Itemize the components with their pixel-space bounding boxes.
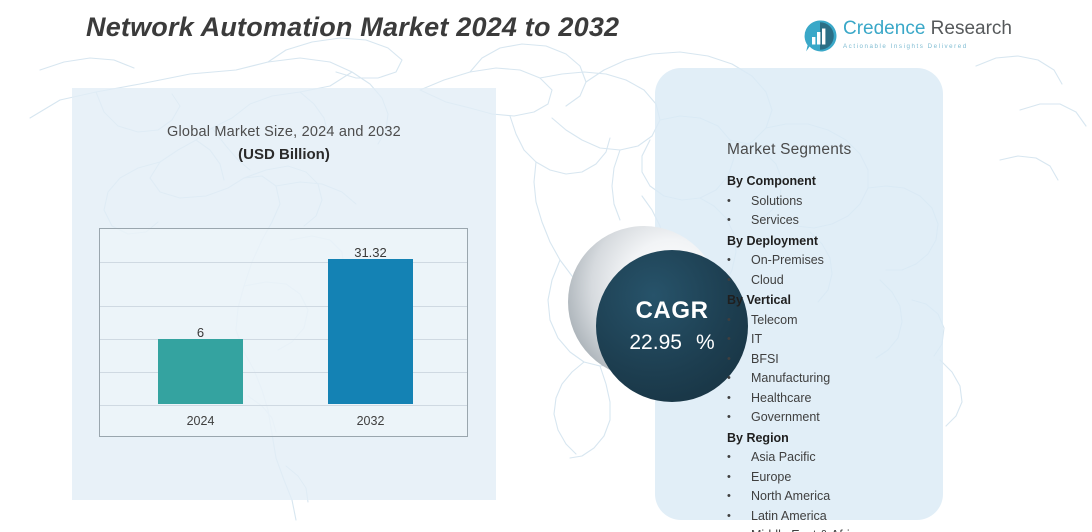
bullet-icon: •: [727, 490, 751, 502]
bar-series: 6 2024 31.32 2032: [100, 229, 467, 436]
bullet-icon: •: [727, 471, 751, 483]
segment-item-label: Solutions: [751, 195, 802, 208]
bullet-icon: •: [727, 353, 751, 365]
segment-item-label: Latin America: [751, 510, 827, 523]
bullet-icon: •: [727, 254, 751, 266]
segment-group-label: By Component: [727, 175, 937, 188]
bar-chart-plot: 6 2024 31.32 2032: [99, 228, 468, 437]
page-title: Network Automation Market 2024 to 2032: [86, 12, 619, 43]
segment-item-label: North America: [751, 490, 830, 503]
segment-item: •Services: [727, 214, 937, 227]
brand-logo-text: Credence Research Actionable Insights De…: [843, 19, 1012, 50]
bullet-icon: •: [727, 274, 751, 286]
segment-item-label: Government: [751, 411, 820, 424]
bullet-icon: •: [727, 314, 751, 326]
segment-item: •Manufacturing: [727, 372, 937, 385]
segment-item-label: Cloud: [751, 274, 784, 287]
bar-2032: [328, 259, 413, 404]
segment-item: •Healthcare: [727, 392, 937, 405]
cagr-unit: %: [696, 331, 715, 354]
segment-item-label: Services: [751, 214, 799, 227]
segment-item-label: Asia Pacific: [751, 451, 816, 464]
brand-name: Credence Research: [843, 19, 1012, 38]
segment-item: •Cloud: [727, 274, 937, 287]
brand-tagline: Actionable Insights Delivered: [843, 43, 1012, 50]
cagr-value-row: 22.95%: [629, 332, 714, 353]
chart-heading-line2: (USD Billion): [72, 146, 496, 163]
segment-item-label: BFSI: [751, 353, 779, 366]
bullet-icon: •: [727, 333, 751, 345]
credence-bar-chart-bubble-icon: [803, 19, 837, 53]
segment-group-label: By Vertical: [727, 294, 937, 307]
segment-item: •Telecom: [727, 314, 937, 327]
bullet-icon: •: [727, 195, 751, 207]
chart-heading: Global Market Size, 2024 and 2032 (USD B…: [72, 124, 496, 163]
segments-list: By Component•Solutions•ServicesBy Deploy…: [727, 175, 937, 532]
segment-item: •Asia Pacific: [727, 451, 937, 464]
segment-item: •Latin America: [727, 510, 937, 523]
segment-group-label: By Deployment: [727, 235, 937, 248]
segment-item: •IT: [727, 333, 937, 346]
segment-item-label: Manufacturing: [751, 372, 830, 385]
bullet-icon: •: [727, 214, 751, 226]
segment-item-label: Healthcare: [751, 392, 811, 405]
bar-value-2024: 6: [158, 325, 243, 340]
brand-name-primary: Credence: [843, 18, 925, 39]
bullet-icon: •: [727, 372, 751, 384]
segment-group-label: By Region: [727, 432, 937, 445]
segment-item: •BFSI: [727, 353, 937, 366]
segment-item: •Government: [727, 411, 937, 424]
bullet-icon: •: [727, 411, 751, 423]
segment-item-label: On-Premises: [751, 254, 824, 267]
cagr-globe: CAGR 22.95%: [568, 226, 748, 402]
bullet-icon: •: [727, 510, 751, 522]
segment-item: •Europe: [727, 471, 937, 484]
bar-category-2032: 2032: [328, 414, 413, 428]
segment-item-label: Europe: [751, 471, 791, 484]
brand-name-secondary: Research: [925, 18, 1012, 39]
cagr-label: CAGR: [635, 299, 708, 323]
brand-logo: Credence Research Actionable Insights De…: [803, 17, 978, 59]
bar-2024: [158, 339, 243, 404]
chart-heading-line1: Global Market Size, 2024 and 2032: [72, 124, 496, 140]
bullet-icon: •: [727, 451, 751, 463]
bar-value-2032: 31.32: [328, 245, 413, 260]
segment-item-label: IT: [751, 333, 762, 346]
infographic-root: Network Automation Market 2024 to 2032 C…: [0, 0, 1092, 532]
bullet-icon: •: [727, 392, 751, 404]
cagr-badge: CAGR 22.95%: [596, 250, 748, 402]
segment-item-label: Telecom: [751, 314, 798, 327]
segments-title: Market Segments: [727, 141, 851, 159]
segment-item: •Solutions: [727, 195, 937, 208]
bar-category-2024: 2024: [158, 414, 243, 428]
segment-item: •North America: [727, 490, 937, 503]
cagr-value: 22.95: [629, 331, 682, 354]
segment-item: •On-Premises: [727, 254, 937, 267]
